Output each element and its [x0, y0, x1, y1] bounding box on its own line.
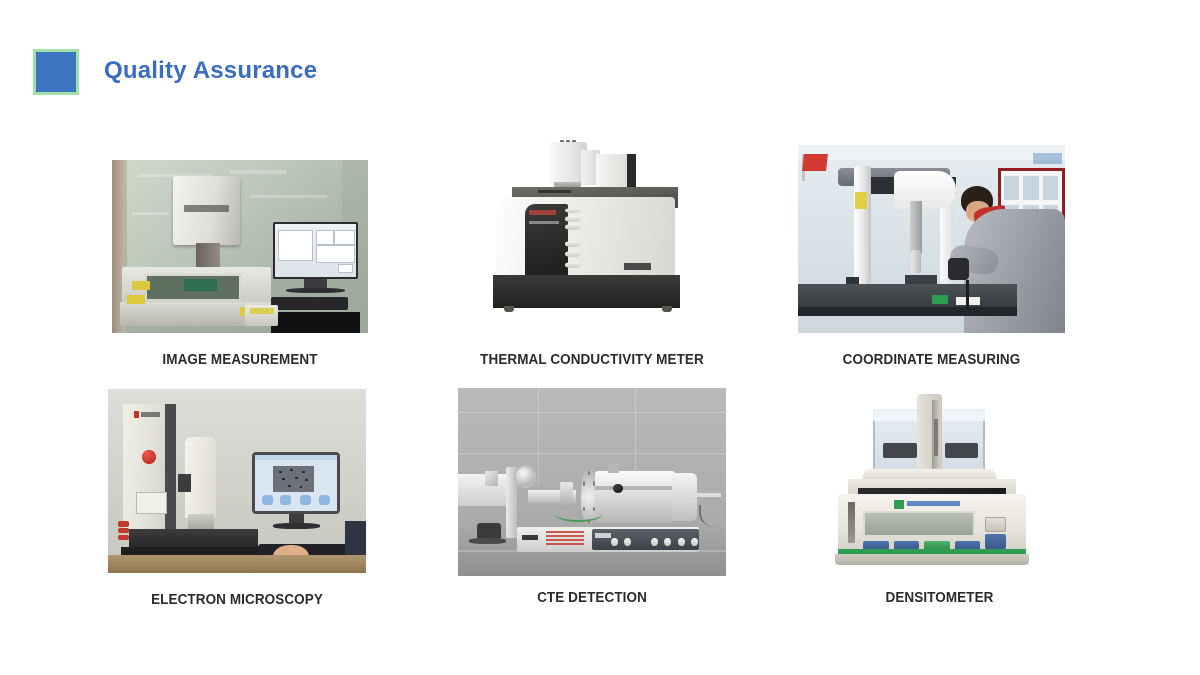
gallery-item[interactable]: IMAGE MEASUREMENT [112, 160, 368, 333]
gallery-item[interactable]: COORDINATE MEASURING [798, 145, 1065, 333]
netzsch-dilatometer-cte-photo [458, 388, 726, 576]
struers-electron-microscopy-workstation-photo [108, 389, 366, 573]
electronic-densitometer-balance-photo [812, 385, 1067, 573]
gallery-item-caption: IMAGE MEASUREMENT [121, 352, 359, 368]
netzsch-thermal-conductivity-meter-photo [458, 138, 726, 333]
gallery-item[interactable]: THERMAL CONDUCTIVITY METER [458, 138, 726, 333]
blue-square-logo-icon [33, 49, 79, 95]
page-title: Quality Assurance [104, 57, 317, 85]
page-header: Quality Assurance [0, 0, 1200, 120]
gallery-item[interactable]: CTE DETECTION [458, 388, 726, 576]
gallery-item-caption: ELECTRON MICROSCOPY [117, 592, 357, 608]
nikon-video-measuring-system-photo [112, 160, 368, 333]
gallery-item-caption: DENSITOMETER [821, 590, 1058, 606]
gallery-item[interactable]: DENSITOMETER [812, 385, 1067, 573]
gallery-item[interactable]: ELECTRON MICROSCOPY [108, 389, 366, 573]
gallery-item-caption: CTE DETECTION [467, 590, 716, 606]
coordinate-measuring-machine-operator-photo [798, 145, 1065, 333]
equipment-gallery: IMAGE MEASUREMENT [0, 120, 1200, 675]
gallery-item-caption: COORDINATE MEASURING [807, 352, 1055, 368]
gallery-item-caption: THERMAL CONDUCTIVITY METER [467, 352, 716, 368]
